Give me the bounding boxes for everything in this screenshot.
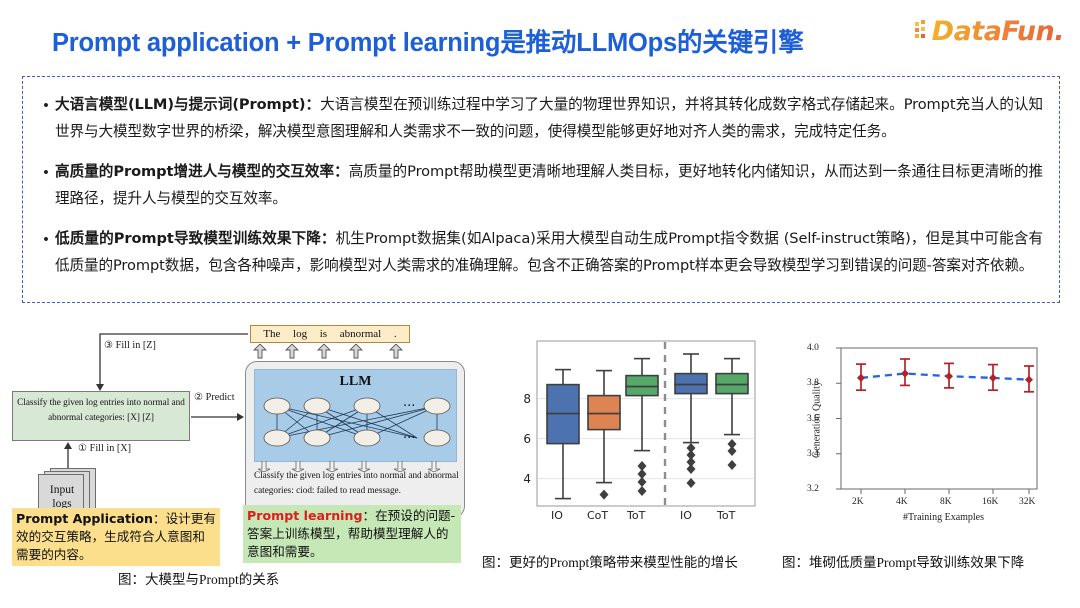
bullet-body: 低质量的Prompt导致模型训练效果下降：机生Prompt数据集(如Alpaca… — [55, 225, 1043, 279]
svg-text:···: ··· — [403, 431, 415, 446]
generated-sentence-box: The log is abnormal . — [250, 325, 410, 343]
bullet-heading: 低质量的Prompt导致模型训练效果下降： — [55, 230, 336, 247]
prompt-template-box: Classify the given log entries into norm… — [12, 391, 190, 441]
list-item: • 高质量的Prompt增进人与模型的交互效率：高质量的Prompt帮助模型更清… — [37, 158, 1043, 212]
step-2-label: ② Predict — [194, 392, 235, 403]
xtick-label: 32K — [1019, 497, 1035, 507]
xtick-label: ToT — [717, 509, 735, 522]
svg-text:6: 6 — [523, 432, 531, 446]
bullet-panel: • 大语言模型(LLM)与提示词(Prompt)：大语言模型在预训练过程中学习了… — [22, 76, 1060, 303]
list-item: • 大语言模型(LLM)与提示词(Prompt)：大语言模型在预训练过程中学习了… — [37, 91, 1043, 145]
neural-net-icon: ··· ··· — [255, 370, 458, 463]
y-axis-title: Generation Quality — [812, 365, 823, 475]
figure-caption-left: 图：大模型与Prompt的关系 — [118, 568, 279, 588]
caption-title: Prompt learning — [247, 508, 362, 523]
datafun-logo-icon — [915, 20, 931, 42]
token: The — [263, 326, 280, 343]
token: log — [293, 326, 307, 343]
svg-text:···: ··· — [403, 399, 415, 414]
input-logs-label: Input logs — [39, 483, 85, 511]
bullet-body: 大语言模型(LLM)与提示词(Prompt)：大语言模型在预训练过程中学习了大量… — [55, 91, 1043, 145]
figure-caption-middle: 图：更好的Prompt策略带来模型性能的增长 — [482, 551, 738, 571]
figure-caption-right: 图：堆砌低质量Prompt导致训练效果下降 — [782, 551, 1024, 571]
bullet-marker: • — [37, 225, 55, 279]
xtick-label: CoT — [587, 509, 608, 522]
bullet-heading: 大语言模型(LLM)与提示词(Prompt)： — [55, 96, 320, 113]
figure-generation-quality: 3.2 3.4 3.6 3.8 4.0 2K 4K 8K 16K 32K #Tr… — [795, 336, 1065, 561]
xtick-label: IO — [551, 509, 563, 522]
xtick-label: IO — [680, 509, 692, 522]
figure-boxplot: 4 6 8 — [505, 333, 795, 563]
bullet-body: 高质量的Prompt增进人与模型的交互效率：高质量的Prompt帮助模型更清晰地… — [55, 158, 1043, 212]
ytick-label: 4.0 — [807, 343, 819, 353]
bullet-marker: • — [37, 158, 55, 212]
llm-input-text: Classify the given log entries into norm… — [254, 468, 459, 497]
caption-prompt-learning: Prompt learning：在预设的问题-答案上训练模型，帮助模型理解人的意… — [243, 505, 461, 563]
list-item: • 低质量的Prompt导致模型训练效果下降：机生Prompt数据集(如Alpa… — [37, 225, 1043, 279]
boxplot-svg: 4 6 8 — [505, 333, 795, 533]
x-axis-title: #Training Examples — [903, 512, 984, 523]
output-arrows-icon — [252, 344, 432, 360]
slide-root: Prompt application + Prompt learning是推动L… — [0, 0, 1080, 608]
bullet-list: • 大语言模型(LLM)与提示词(Prompt)：大语言模型在预训练过程中学习了… — [23, 77, 1059, 279]
caption-prompt-application: Prompt Application：设计更有效的交互策略，生成符合人意图和需要… — [12, 508, 220, 566]
brand-logo: DataFun. — [915, 14, 1064, 48]
svg-text:8: 8 — [523, 392, 531, 406]
token: . — [394, 326, 397, 343]
xtick-label: 16K — [982, 497, 998, 507]
step-1-label: ① Fill in [X] — [78, 443, 131, 454]
xtick-label: 2K — [852, 497, 864, 507]
xtick-label: 4K — [896, 497, 908, 507]
xtick-label: ToT — [627, 509, 645, 522]
caption-title: Prompt Application — [16, 511, 153, 526]
logo-text: DataFun. — [932, 16, 1064, 47]
svg-text:4: 4 — [523, 472, 531, 486]
ytick-label: 3.2 — [807, 484, 819, 494]
token: abnormal — [340, 326, 382, 343]
xtick-label: 8K — [940, 497, 952, 507]
token: is — [320, 326, 327, 343]
step-3-label: ③ Fill in [Z] — [104, 340, 156, 351]
llm-module: LLM — [245, 361, 465, 518]
bullet-heading: 高质量的Prompt增进人与模型的交互效率： — [55, 163, 349, 180]
page-title: Prompt application + Prompt learning是推动L… — [52, 22, 804, 59]
llm-network-panel: LLM — [254, 369, 457, 462]
bullet-marker: • — [37, 91, 55, 145]
